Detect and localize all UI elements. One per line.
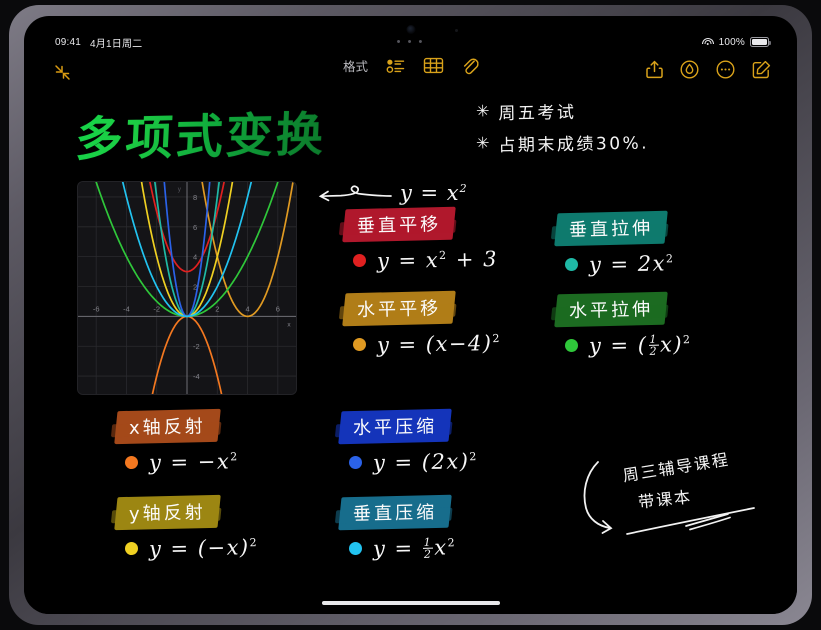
chip-label: 水平压缩 bbox=[353, 412, 438, 440]
note-canvas[interactable]: 多项式变换 ✳ 周五考试 ✳ 占期末成绩30%. -6-4-2246-4-224… bbox=[24, 90, 797, 614]
color-dot-vertical-stretch bbox=[565, 258, 578, 271]
format-button[interactable]: 格式 bbox=[343, 56, 368, 75]
color-dot-horizontal-stretch bbox=[565, 339, 578, 352]
toolbar-right-group bbox=[646, 60, 771, 84]
color-dot-y-axis-reflection bbox=[125, 542, 138, 555]
svg-text:2: 2 bbox=[215, 304, 219, 313]
chip-vertical-translation: 垂直平移 bbox=[342, 207, 456, 242]
battery-icon bbox=[750, 37, 769, 47]
equation-row: y = x2 + 3 bbox=[353, 248, 498, 272]
chip-horizontal-translation: 水平平移 bbox=[342, 291, 456, 326]
graph-svg: -6-4-2246-4-22468xy bbox=[78, 182, 296, 394]
color-dot-vertical-translation bbox=[353, 254, 366, 267]
color-dot-vertical-compression bbox=[349, 542, 362, 555]
toolbar-center-group: 格式 bbox=[343, 56, 478, 75]
status-time: 09:41 bbox=[55, 37, 81, 48]
paperclip-icon[interactable] bbox=[461, 56, 478, 75]
chip-label: 垂直拉伸 bbox=[569, 214, 654, 242]
card-y-axis-reflection[interactable]: y轴反射y = (−x)2 bbox=[116, 496, 258, 560]
color-dot-horizontal-compression bbox=[349, 456, 362, 469]
equation-vertical-translation: y = x2 + 3 bbox=[377, 247, 498, 273]
svg-text:-6: -6 bbox=[93, 304, 100, 313]
compose-new-note-icon[interactable] bbox=[752, 60, 771, 84]
underline-scribble-icon bbox=[624, 504, 784, 540]
front-camera-icon bbox=[406, 25, 415, 34]
device-bezel: 09:41 4月1日周二 • • • 100% bbox=[9, 5, 812, 625]
chip-x-axis-reflection: x轴反射 bbox=[114, 409, 220, 444]
share-icon[interactable] bbox=[646, 60, 663, 84]
markup-pen-icon[interactable] bbox=[680, 60, 699, 84]
equation-vertical-compression: y = 12x2 bbox=[373, 535, 457, 561]
battery-percent: 100% bbox=[719, 37, 745, 48]
reminder-text-1: 周三辅导课程 bbox=[621, 446, 731, 487]
svg-text:-2: -2 bbox=[193, 342, 200, 351]
equation-row: y = 12x2 bbox=[349, 536, 456, 560]
home-indicator[interactable] bbox=[322, 601, 500, 605]
equation-horizontal-translation: y = (x−4)2 bbox=[377, 331, 501, 357]
card-horizontal-stretch[interactable]: 水平拉伸y = (12x)2 bbox=[556, 293, 692, 357]
status-bar-right: 100% bbox=[702, 37, 769, 48]
chip-label: y轴反射 bbox=[129, 498, 206, 526]
card-horizontal-compression[interactable]: 水平压缩y = (2x)2 bbox=[340, 410, 478, 474]
equation-x-axis-reflection: y = −x2 bbox=[149, 449, 239, 475]
status-date: 4月1日周二 bbox=[90, 35, 142, 50]
base-function-annotation: y = x2 bbox=[314, 180, 468, 206]
exam-memo: ✳ 周五考试 ✳ 占期末成绩30%. bbox=[476, 98, 649, 162]
chip-label: 垂直平移 bbox=[357, 210, 442, 238]
collapse-arrows-icon[interactable] bbox=[52, 63, 74, 83]
equation-vertical-stretch: y = 2x2 bbox=[589, 251, 675, 276]
memo-text-1: 周五考试 bbox=[498, 98, 576, 124]
ipad-device: 09:41 4月1日周二 • • • 100% bbox=[0, 0, 821, 630]
card-horizontal-translation[interactable]: 水平平移y = (x−4)2 bbox=[344, 292, 501, 356]
memo-text-2: 占期末成绩30%. bbox=[498, 128, 649, 156]
asterisk-bullet-icon: ✳ bbox=[476, 104, 490, 120]
equation-horizontal-stretch: y = (12x)2 bbox=[589, 332, 692, 358]
chip-label: 水平拉伸 bbox=[569, 295, 654, 323]
chip-horizontal-compression: 水平压缩 bbox=[338, 409, 452, 444]
memo-line: ✳ 占期末成绩30%. bbox=[476, 128, 650, 156]
svg-text:-2: -2 bbox=[153, 304, 160, 313]
note-toolbar: 格式 bbox=[24, 56, 797, 90]
chip-vertical-compression: 垂直压缩 bbox=[338, 495, 452, 530]
card-vertical-stretch[interactable]: 垂直拉伸y = 2x2 bbox=[556, 212, 675, 276]
chip-label: x轴反射 bbox=[129, 412, 206, 440]
chip-vertical-stretch: 垂直拉伸 bbox=[554, 211, 668, 246]
equation-row: y = (2x)2 bbox=[349, 450, 478, 474]
table-icon[interactable] bbox=[423, 57, 443, 74]
chip-label: 水平平移 bbox=[357, 294, 442, 322]
svg-text:4: 4 bbox=[245, 304, 249, 313]
parabola-graph[interactable]: -6-4-2246-4-22468xy bbox=[78, 182, 296, 394]
svg-text:-4: -4 bbox=[193, 372, 200, 381]
tutoring-reminder: 周三辅导课程 带课本 bbox=[584, 448, 784, 548]
card-vertical-translation[interactable]: 垂直平移y = x2 + 3 bbox=[344, 208, 498, 272]
arrow-loop-left-icon bbox=[314, 180, 396, 206]
svg-text:-4: -4 bbox=[123, 304, 130, 313]
equation-row: y = 2x2 bbox=[565, 252, 675, 276]
equation-row: y = (−x)2 bbox=[125, 536, 258, 560]
page-title: 多项式变换 bbox=[74, 95, 328, 169]
chip-label: 垂直压缩 bbox=[353, 498, 438, 526]
equation-row: y = (12x)2 bbox=[565, 333, 692, 357]
equation-y-axis-reflection: y = (−x)2 bbox=[149, 535, 259, 561]
color-dot-horizontal-translation bbox=[353, 338, 366, 351]
status-bar-left: 09:41 4月1日周二 bbox=[55, 35, 142, 50]
equation-horizontal-compression: y = (2x)2 bbox=[373, 449, 478, 475]
asterisk-bullet-icon: ✳ bbox=[476, 136, 490, 152]
status-bar: 09:41 4月1日周二 • • • 100% bbox=[24, 34, 797, 50]
more-ellipsis-icon[interactable] bbox=[716, 60, 735, 84]
card-x-axis-reflection[interactable]: x轴反射y = −x2 bbox=[116, 410, 239, 474]
svg-text:6: 6 bbox=[193, 223, 197, 232]
screen: 09:41 4月1日周二 • • • 100% bbox=[24, 16, 797, 614]
memo-line: ✳ 周五考试 bbox=[476, 96, 650, 124]
sensor-dot-icon bbox=[455, 29, 458, 32]
svg-text:8: 8 bbox=[193, 193, 197, 202]
svg-text:4: 4 bbox=[193, 253, 197, 262]
equation-row: y = −x2 bbox=[125, 450, 239, 474]
status-bar-center-dots: • • • bbox=[397, 39, 425, 45]
color-dot-x-axis-reflection bbox=[125, 456, 138, 469]
checklist-icon[interactable] bbox=[386, 58, 405, 74]
chip-horizontal-stretch: 水平拉伸 bbox=[554, 292, 668, 327]
svg-text:6: 6 bbox=[276, 304, 280, 313]
base-function-label: y = x2 bbox=[400, 181, 468, 205]
equation-row: y = (x−4)2 bbox=[353, 332, 501, 356]
wifi-icon bbox=[702, 38, 714, 47]
chip-y-axis-reflection: y轴反射 bbox=[114, 495, 220, 530]
card-vertical-compression[interactable]: 垂直压缩y = 12x2 bbox=[340, 496, 456, 560]
